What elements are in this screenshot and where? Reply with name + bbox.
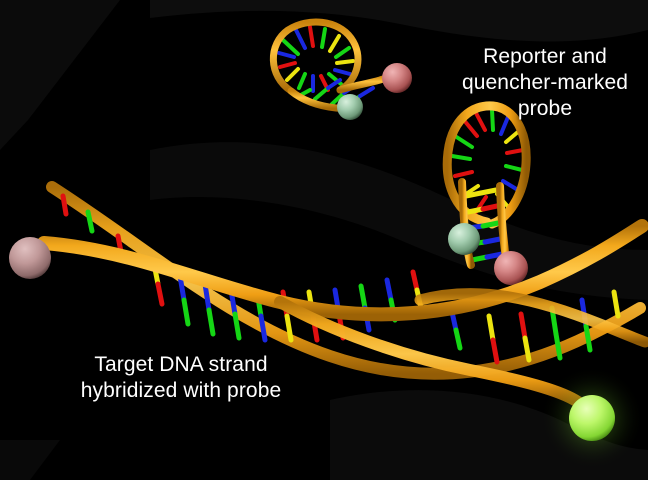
probe-top-quencher-sphere [382,63,412,93]
probe-right-reporter-sphere [448,223,480,255]
figure-canvas: Reporter and quencher-marked probe Targe… [0,0,648,480]
probe-right-quencher-sphere [494,251,528,285]
caption-target-strand: Target DNA strand hybridized with probe [50,352,312,404]
duplex-terminus-sphere-left [9,237,51,279]
probe-top-reporter-sphere [337,94,363,120]
caption-reporter-probe: Reporter and quencher-marked probe [450,44,640,122]
duplex-reporter-sphere-glowing [569,395,615,441]
